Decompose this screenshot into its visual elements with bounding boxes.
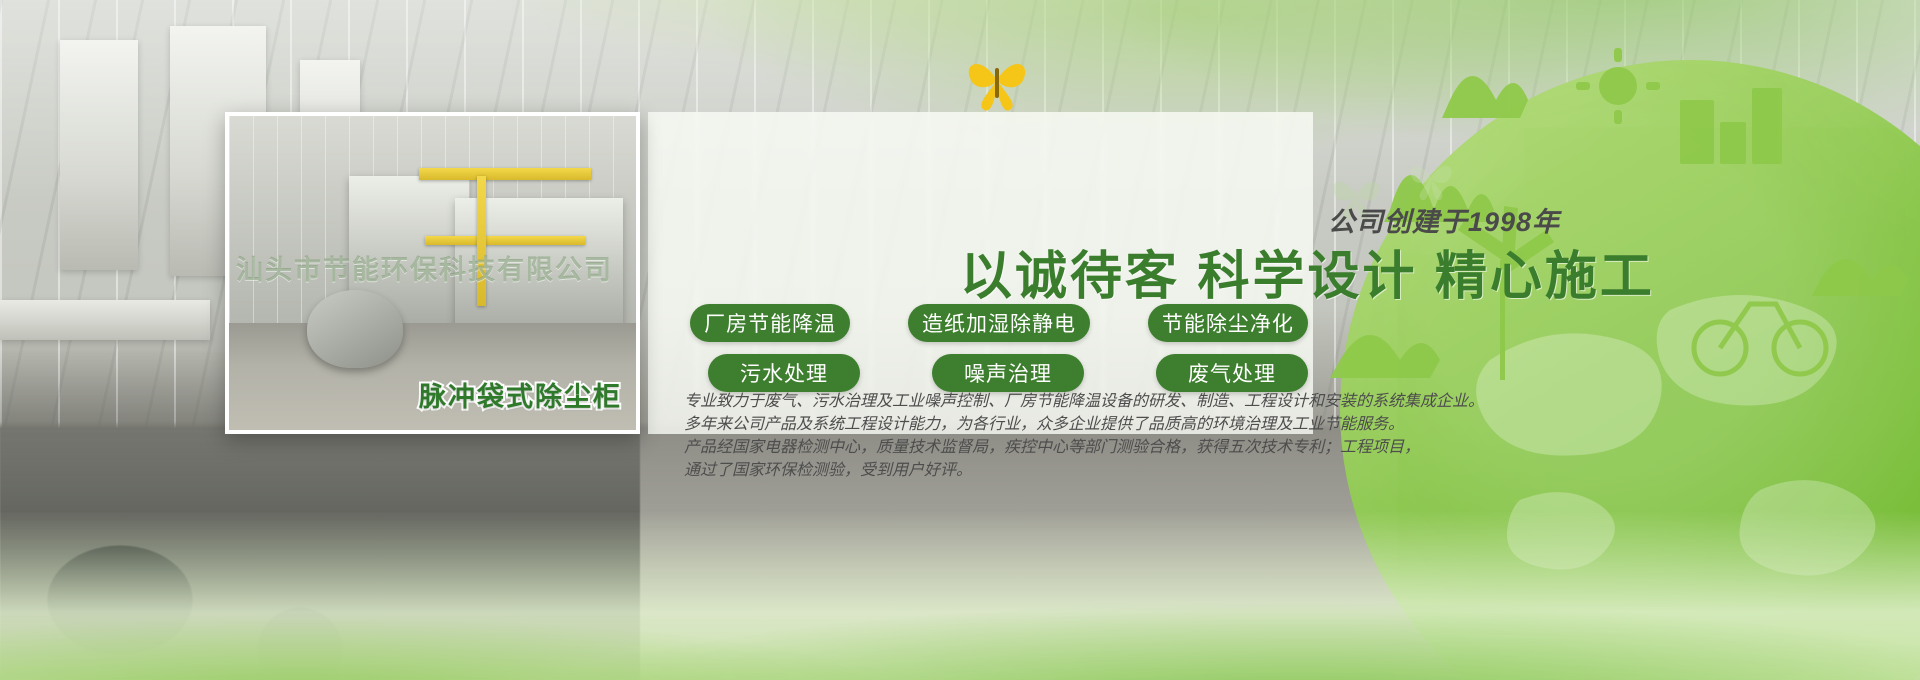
project-photo-card: 脉冲袋式除尘柜: [225, 112, 640, 434]
duct-column-1: [60, 40, 138, 270]
service-tag-list: 厂房节能降温 造纸加湿除静电 节能除尘净化 污水处理 噪声治理 废气处理: [690, 304, 1308, 404]
duct-horizontal: [0, 300, 210, 340]
service-tag-paper-humidify[interactable]: 造纸加湿除静电: [908, 304, 1090, 342]
banner-content: 公司创建于1998年 以诚待客 科学设计 精心施工 厂房节能降温 造纸加湿除静电…: [648, 112, 1608, 532]
service-tag-noise-control[interactable]: 噪声治理: [932, 354, 1084, 392]
service-tag-waste-gas[interactable]: 废气处理: [1156, 354, 1308, 392]
service-tag-dust-purification[interactable]: 节能除尘净化: [1148, 304, 1308, 342]
banner-headline: 以诚待客 科学设计 精心施工: [960, 234, 1600, 309]
photo-yellow-ladder: [477, 176, 486, 306]
photo-yellow-rail-2: [425, 236, 585, 245]
hero-banner: 脉冲袋式除尘柜 汕头市节能环保科技有限公司 公司创建于1998年 以诚待客 科学…: [0, 0, 1920, 680]
photo-blower-fan: [307, 290, 403, 368]
description-line-4: 通过了国家环保检测验，受到用户好评。: [684, 459, 1584, 482]
service-tag-row-2: 污水处理 噪声治理 废气处理: [690, 354, 1308, 392]
description-line-2: 多年来公司产品及系统工程设计能力，为各行业，众多企业提供了品质高的环境治理及工业…: [684, 413, 1584, 436]
description-line-3: 产品经国家电器检测中心，质量技术监督局，疾控中心等部门测验合格，获得五次技术专利…: [684, 436, 1584, 459]
service-tag-wastewater[interactable]: 污水处理: [708, 354, 860, 392]
service-tag-row-1: 厂房节能降温 造纸加湿除静电 节能除尘净化: [690, 304, 1308, 342]
description-line-1: 专业致力于废气、污水治理及工业噪声控制、厂房节能降温设备的研发、制造、工程设计和…: [684, 390, 1584, 413]
photo-caption: 脉冲袋式除尘柜: [419, 375, 622, 414]
photo-yellow-rail-1: [419, 168, 591, 180]
company-description: 专业致力于废气、污水治理及工业噪声控制、厂房节能降温设备的研发、制造、工程设计和…: [684, 390, 1584, 482]
service-tag-factory-cooling[interactable]: 厂房节能降温: [690, 304, 850, 342]
